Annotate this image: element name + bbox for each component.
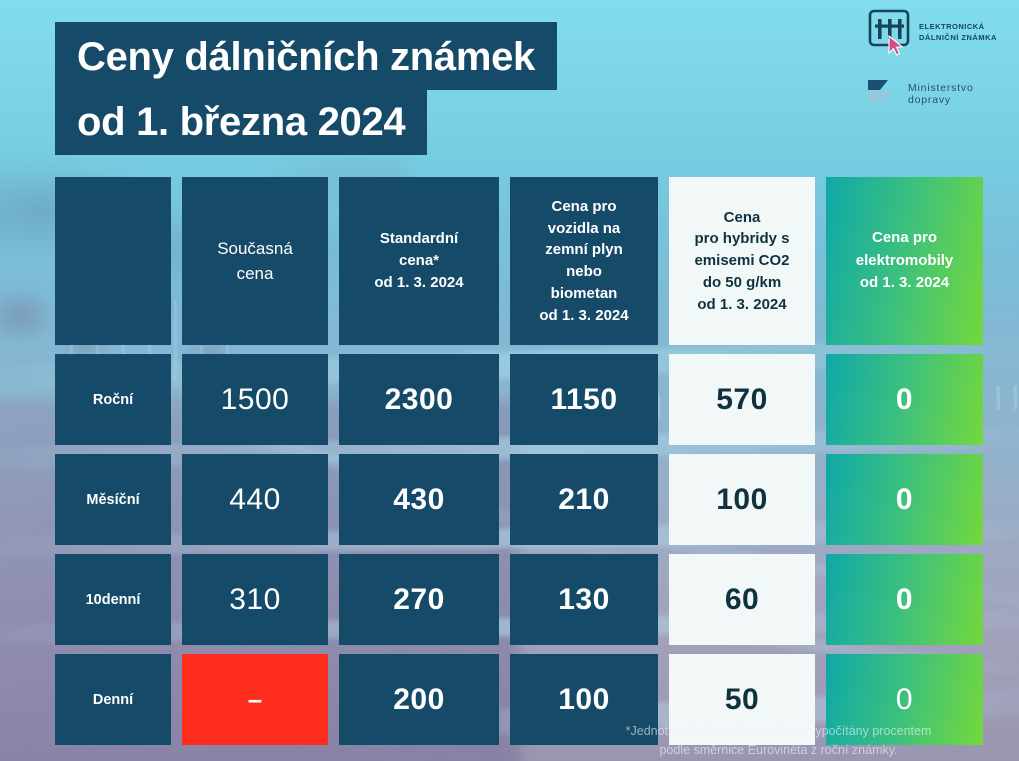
table-cell-10denni-cng: 130 — [510, 554, 658, 645]
table-cell-mesicni-hybrid: 100 — [669, 454, 815, 545]
ministry-logo: Ministerstvo dopravy — [866, 76, 1019, 111]
table-cell-rocni-cng: 1150 — [510, 354, 658, 445]
column-header-hybrid: Cenapro hybridy semisemi CO2do 50 g/kmod… — [669, 177, 815, 345]
table-cell-mesicni-current: 440 — [182, 454, 328, 545]
row-label-10denni: 10denní — [55, 554, 171, 645]
edaz-logo-text: ELEKTRONICKÁ DÁLNIČNÍ ZNÁMKA — [919, 22, 997, 44]
footnote-line-1: *Jednotlivé hodnoty kupónů jsou vypočítá… — [560, 722, 997, 741]
page-title: Ceny dálničních známek od 1. března 2024 — [55, 22, 557, 155]
table-cell-mesicni-standard: 430 — [339, 454, 499, 545]
column-header-electro-label: Cena proelektromobilyod 1. 3. 2024 — [856, 227, 954, 295]
edaz-logo: ELEKTRONICKÁ DÁLNIČNÍ ZNÁMKA — [866, 8, 997, 58]
table-corner-cell — [55, 177, 171, 345]
footnote-line-2: podle směrnice Eurovinéta z roční známky… — [560, 741, 997, 760]
column-header-current-label: Současnácena — [217, 236, 293, 287]
column-header-standard-label: Standardnícena*od 1. 3. 2024 — [374, 228, 463, 293]
column-header-electro: Cena proelektromobilyod 1. 3. 2024 — [826, 177, 983, 345]
edaz-logo-line-1: ELEKTRONICKÁ — [919, 22, 985, 31]
table-cell-mesicni-cng: 210 — [510, 454, 658, 545]
page-title-line-1: Ceny dálničních známek — [55, 22, 557, 90]
table-cell-10denni-electro: 0 — [826, 554, 983, 645]
table-cell-rocni-standard: 2300 — [339, 354, 499, 445]
ministry-logo-label: Ministerstvo dopravy — [908, 82, 1019, 106]
column-header-standard: Standardnícena*od 1. 3. 2024 — [339, 177, 499, 345]
table-cell-mesicni-electro: 0 — [826, 454, 983, 545]
table-cell-rocni-electro: 0 — [826, 354, 983, 445]
infographic-canvas: Ceny dálničních známek od 1. března 2024… — [0, 0, 1019, 761]
ministry-chevron-icon — [866, 76, 898, 111]
column-header-cng-label: Cena provozidla nazemní plynnebobiometan… — [539, 196, 628, 327]
table-cell-10denni-standard: 270 — [339, 554, 499, 645]
table-cell-10denni-hybrid: 60 — [669, 554, 815, 645]
row-label-mesicni: Měsíční — [55, 454, 171, 545]
column-header-hybrid-label: Cenapro hybridy semisemi CO2do 50 g/kmod… — [694, 207, 789, 316]
price-table: Současnácena Standardnícena*od 1. 3. 202… — [55, 177, 983, 745]
column-header-current: Současnácena — [182, 177, 328, 345]
table-cell-10denni-current: 310 — [182, 554, 328, 645]
highway-overpass-cursor-icon — [866, 8, 912, 58]
table-cell-rocni-current: 1500 — [182, 354, 328, 445]
page-title-line-2: od 1. března 2024 — [55, 90, 427, 155]
edaz-logo-line-2: DÁLNIČNÍ ZNÁMKA — [919, 33, 997, 42]
footnote: *Jednotlivé hodnoty kupónů jsou vypočítá… — [0, 722, 997, 761]
column-header-cng: Cena provozidla nazemní plynnebobiometan… — [510, 177, 658, 345]
row-label-rocni: Roční — [55, 354, 171, 445]
table-cell-rocni-hybrid: 570 — [669, 354, 815, 445]
